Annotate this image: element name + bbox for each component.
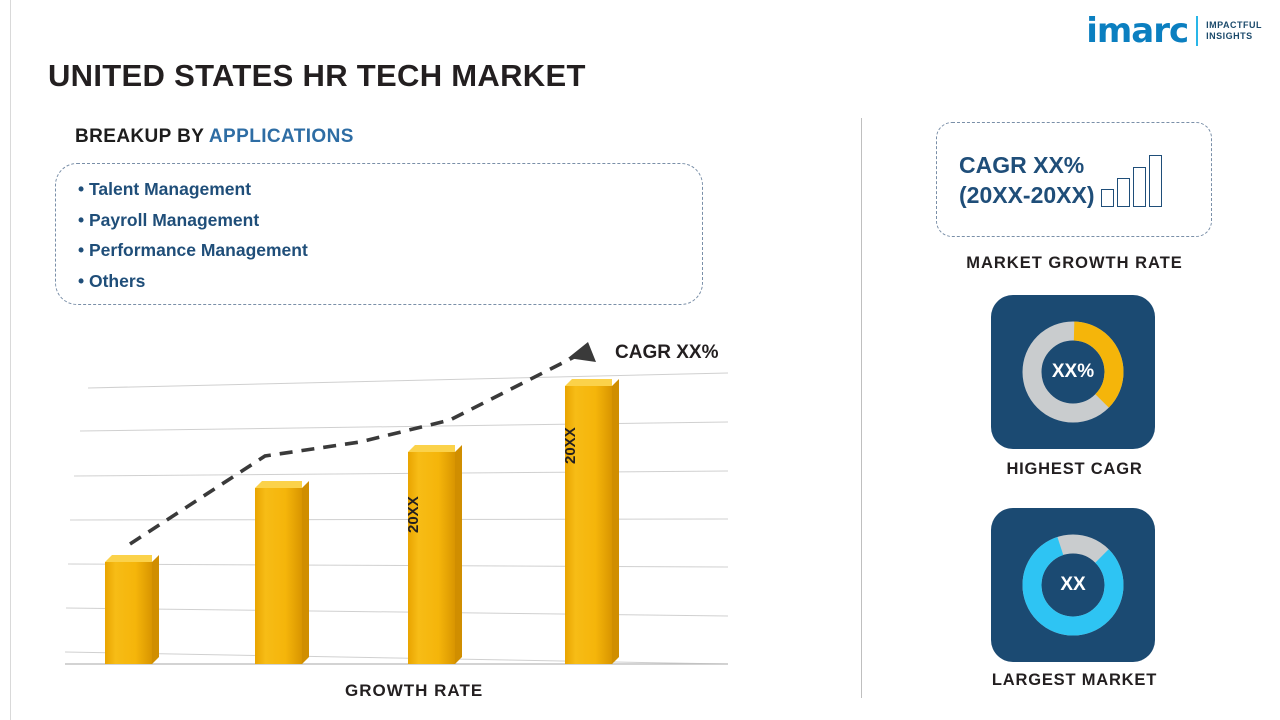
bar-year-label: 20XX (562, 427, 579, 464)
bar-chart-icon (1101, 153, 1162, 207)
bar-group (105, 379, 619, 664)
page-title: UNITED STATES HR TECH MARKET (48, 58, 586, 94)
left-edge-strip (0, 0, 11, 720)
applications-list: • Talent Management • Payroll Management… (78, 174, 308, 296)
largest-market-tile: XX (991, 508, 1155, 662)
breakup-heading-accent: APPLICATIONS (209, 126, 354, 147)
market-growth-rate-caption: MARKET GROWTH RATE (862, 254, 1280, 273)
highest-cagr-caption: HIGHEST CAGR (862, 460, 1280, 479)
chart-cagr-label: CAGR XX% (615, 342, 718, 364)
logo-tagline-line1: IMPACTFUL (1206, 20, 1262, 31)
growth-bar-chart: 20XX 20XX (60, 330, 750, 690)
market-growth-rate-card: CAGR XX% (20XX-20XX) (936, 122, 1212, 237)
trend-line (130, 354, 580, 544)
breakup-heading: BREAKUP BY APPLICATIONS (75, 126, 354, 148)
list-item: • Talent Management (78, 174, 308, 205)
largest-market-caption: LARGEST MARKET (862, 671, 1280, 690)
cagr-text: CAGR XX% (20XX-20XX) (959, 150, 1095, 210)
logo-wordmark: imarc (1086, 14, 1188, 48)
highest-cagr-value: XX% (1021, 320, 1125, 424)
imarc-logo: imarc IMPACTFUL INSIGHTS (1086, 14, 1262, 48)
largest-market-donut: XX (1021, 533, 1125, 637)
cagr-value: CAGR XX% (959, 150, 1095, 180)
list-item: • Others (78, 266, 308, 297)
highest-cagr-tile: XX% (991, 295, 1155, 449)
list-item: • Performance Management (78, 235, 308, 266)
breakup-heading-prefix: BREAKUP BY (75, 126, 209, 147)
largest-market-value: XX (1021, 533, 1125, 637)
highest-cagr-donut: XX% (1021, 320, 1125, 424)
cagr-period: (20XX-20XX) (959, 180, 1095, 210)
chart-axis-label: GROWTH RATE (345, 681, 483, 701)
logo-tagline-line2: INSIGHTS (1206, 31, 1262, 42)
list-item: • Payroll Management (78, 205, 308, 236)
section-divider (861, 118, 862, 698)
logo-tagline: IMPACTFUL INSIGHTS (1206, 20, 1262, 43)
bar-year-label: 20XX (405, 496, 422, 533)
logo-divider (1196, 16, 1198, 46)
